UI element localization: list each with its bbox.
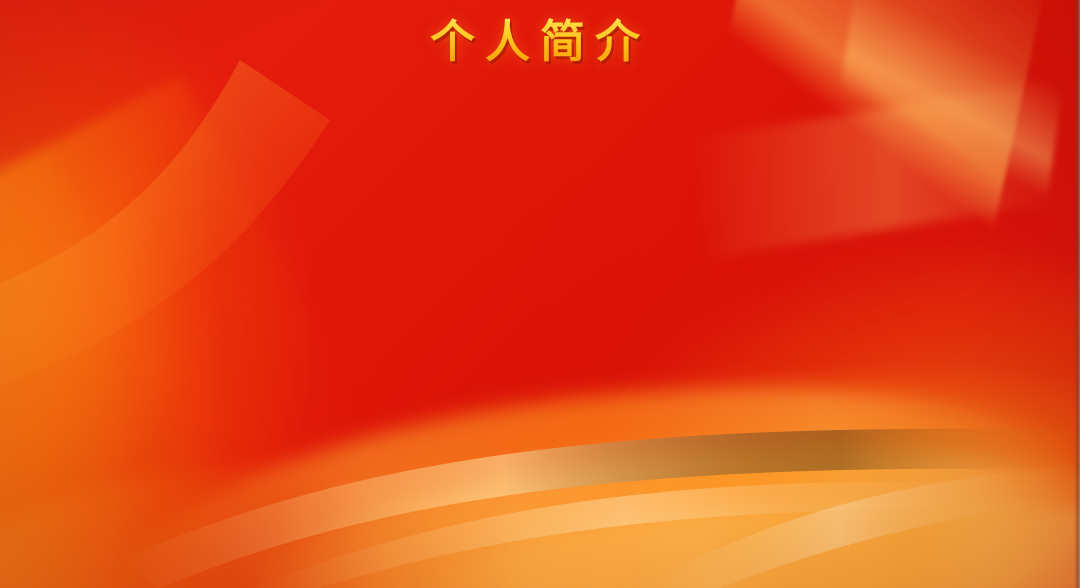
profile-body-text: 陆嘉莹，佛山大学人文学院学前教育（师范）专业2021级本科生，汉族，共青团员。曾…	[26, 80, 1054, 530]
page-title: 个人简介	[0, 0, 1080, 70]
poster-canvas: 个人简介 陆嘉莹，佛山大学人文学院学前教育（师范）专业2021级本科生，汉族，共…	[0, 0, 1080, 588]
